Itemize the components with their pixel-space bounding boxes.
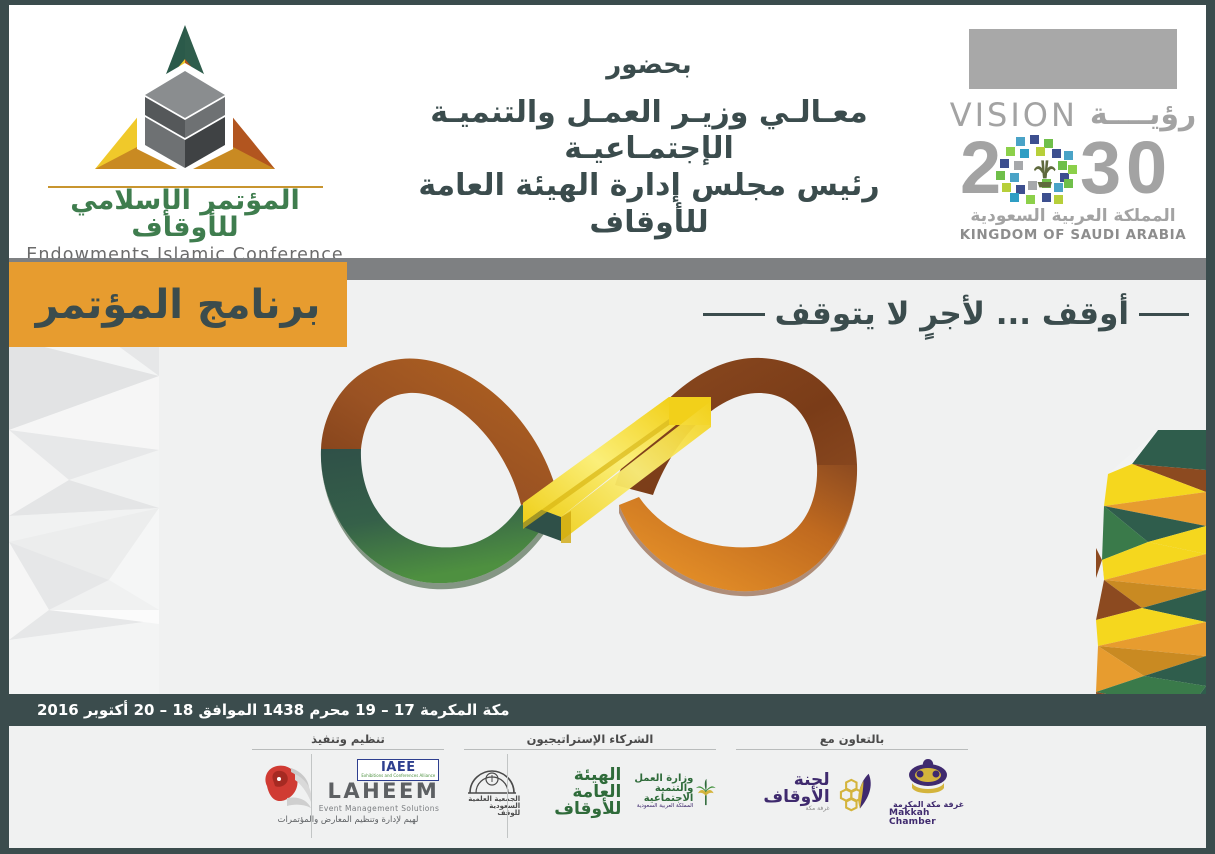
vision-word-ar: رؤيــــة bbox=[1090, 100, 1196, 130]
footer-section-rule bbox=[464, 749, 716, 750]
iaee-badge-logo: IAEE Exhibitions and Conferences Allianc… bbox=[357, 759, 439, 780]
footer-section-cooperation: بالتعاون مع غرفة مكة المكرمة bbox=[726, 732, 978, 848]
sponsor-name-english: Makkah Chamber bbox=[889, 809, 968, 827]
decorative-triangles-right bbox=[1088, 430, 1206, 694]
footer-columns: بالتعاون مع غرفة مكة المكرمة bbox=[259, 732, 978, 848]
footer-section-title: تنظيم وتنفيذ bbox=[311, 732, 385, 746]
vision-plate-placeholder bbox=[969, 29, 1177, 89]
vision-kingdom-english: KINGDOM OF SAUDI ARABIA bbox=[954, 227, 1192, 243]
tagline-rule-left bbox=[703, 313, 765, 316]
footer-divider-1 bbox=[507, 754, 508, 838]
sponsor-name-arabic: لجنة الأوقاف bbox=[736, 772, 830, 806]
conference-poster: المؤتمر الإسلامي للأوقاف Endowments Isla… bbox=[0, 0, 1215, 854]
presence-kicker: بحضور bbox=[389, 51, 909, 81]
footer-logo-group: IAEE Exhibitions and Conferences Allianc… bbox=[257, 755, 440, 829]
logo-title-english: Endowments Islamic Conference bbox=[25, 245, 345, 258]
vision-number-2030-icon: 2 3 0 bbox=[954, 133, 1192, 205]
poster-tagline: أوقف ... لأجرٍ لا يتوقف bbox=[703, 296, 1189, 332]
honeycomb-leaf-icon bbox=[834, 769, 877, 815]
sponsor-awqaf-committee-logo: لجنة الأوقاف غرفة مكة bbox=[736, 769, 877, 815]
vision-kingdom-arabic: المملكة العربية السعودية bbox=[954, 206, 1192, 226]
kaaba-triangles-logo-icon bbox=[25, 19, 345, 184]
footer-section-strategic-partners: الشركاء الإستراتيجيون وزارة العمل والتنم… bbox=[454, 732, 726, 848]
frame-right-border bbox=[1206, 0, 1215, 854]
presence-line-2: رئيس مجلس إدارة الهيئة العامة للأوقاف bbox=[389, 168, 909, 241]
footer-divider-2 bbox=[311, 754, 312, 838]
frame-bottom-border bbox=[0, 848, 1215, 854]
svg-text:2: 2 bbox=[960, 133, 1001, 205]
tagline-rule-right bbox=[1139, 313, 1189, 316]
sponsor-name-arabic-2: والتنمية الاجتماعية bbox=[633, 784, 693, 804]
footer-section-title: بالتعاون مع bbox=[820, 732, 884, 746]
sponsor-name-arabic: الهيئة العامة للأوقاف bbox=[532, 767, 621, 818]
sponsor-name-arabic: الجمعية العلمية السعودية للوقف bbox=[464, 796, 520, 817]
conference-logo: المؤتمر الإسلامي للأوقاف Endowments Isla… bbox=[25, 19, 345, 258]
sponsor-makkah-chamber-logo: غرفة مكة المكرمة Makkah Chamber bbox=[889, 757, 968, 827]
program-banner: برنامج المؤتمر bbox=[9, 262, 347, 347]
palm-tree-icon bbox=[696, 772, 716, 812]
laheem-wordmark: LAHEEM bbox=[327, 781, 439, 802]
sponsor-sub-arabic: غرفة مكة bbox=[805, 806, 829, 812]
footer-section-title: الشركاء الإستراتيجيون bbox=[527, 732, 654, 746]
svg-text:3: 3 bbox=[1080, 133, 1121, 205]
svg-text:0: 0 bbox=[1126, 133, 1167, 205]
sponsor-general-authority-awqaf-logo: الهيئة العامة للأوقاف bbox=[532, 767, 621, 818]
tagline-text: أوقف ... لأجرٍ لا يتوقف bbox=[775, 296, 1129, 332]
date-location-bar: مكة المكرمة 17 – 19 محرم 1438 الموافق 18… bbox=[9, 694, 1206, 726]
footer-section-rule bbox=[252, 749, 444, 750]
frame-top-border bbox=[0, 0, 1215, 5]
footer-section-organizer: تنظيم وتنفيذ bbox=[242, 732, 454, 848]
sponsor-saudi-waqf-society-logo: الجمعية العلمية السعودية للوقف bbox=[464, 767, 520, 817]
vision-word-en: VISION bbox=[950, 99, 1078, 131]
presence-line-1: معـالـي وزيـر العمـل والتنميـة الإجتمـاع… bbox=[389, 95, 909, 168]
date-location-text: مكة المكرمة 17 – 19 محرم 1438 الموافق 18… bbox=[37, 701, 510, 719]
laheem-tagline-en: Event Management Solutions bbox=[319, 804, 440, 813]
poster-header: المؤتمر الإسلامي للأوقاف Endowments Isla… bbox=[9, 5, 1206, 258]
vision-2030-logo: VISION رؤيــــة 2 3 0 bbox=[954, 29, 1192, 243]
lion-head-icon bbox=[257, 762, 315, 810]
poster-footer: بالتعاون مع غرفة مكة المكرمة bbox=[9, 726, 1206, 848]
vision-wordmark: VISION رؤيــــة bbox=[954, 99, 1192, 131]
infinity-ribbon-artwork bbox=[309, 345, 869, 635]
sponsor-sub-arabic: المملكة العربية السعودية bbox=[637, 804, 693, 810]
footer-logo-group: وزارة العمل والتنمية الاجتماعية المملكة … bbox=[464, 755, 716, 829]
footer-logo-group: غرفة مكة المكرمة Makkah Chamber لجنة الأ… bbox=[736, 755, 968, 829]
logo-title-arabic: المؤتمر الإسلامي للأوقاف bbox=[25, 187, 345, 241]
presence-block: بحضور معـالـي وزيـر العمـل والتنميـة الإ… bbox=[389, 51, 909, 258]
arch-emblem-icon bbox=[464, 767, 520, 795]
frame-left-border bbox=[0, 0, 9, 854]
footer-section-rule bbox=[736, 749, 968, 750]
program-banner-label: برنامج المؤتمر bbox=[36, 282, 321, 328]
sponsor-ministry-of-labour-logo: وزارة العمل والتنمية الاجتماعية المملكة … bbox=[633, 772, 716, 812]
laheem-tagline-ar: لهيم لإدارة وتنظيم المعارض والمؤتمرات bbox=[278, 815, 419, 825]
organizer-laheem-logo: IAEE Exhibitions and Conferences Allianc… bbox=[257, 759, 440, 824]
